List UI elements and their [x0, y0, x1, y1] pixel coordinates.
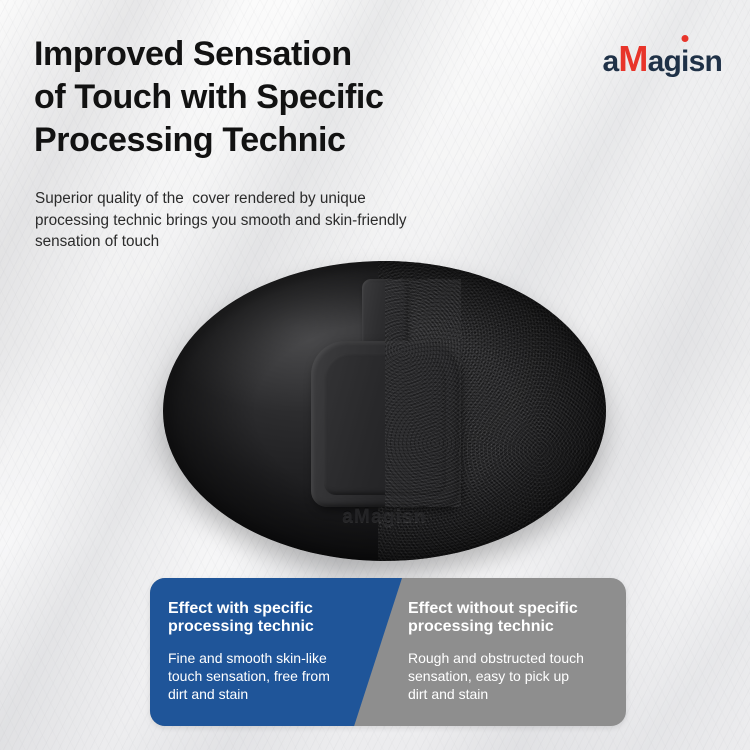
product-image: aMagisn: [163, 261, 606, 561]
logo-letter-i-stem: i: [681, 45, 689, 78]
brand-logo: a M ag i sn: [603, 41, 722, 77]
comparison-with-column: Effect with specific processing technic …: [168, 578, 376, 726]
logo-letter-i: i: [681, 47, 689, 77]
comparison-without-body: Rough and obstructed touch sensation, ea…: [408, 650, 620, 704]
comparison-with-body: Fine and smooth skin-like touch sensatio…: [168, 650, 376, 704]
logo-letter-a: a: [603, 47, 619, 77]
pad-center-boss: [311, 279, 459, 507]
comparison-without-title: Effect without specific processing techn…: [408, 600, 620, 636]
comparison-without-column: Effect without specific processing techn…: [408, 578, 620, 726]
comparison-panel: Effect with specific processing technic …: [150, 578, 626, 726]
headline-line-2: of Touch with Specific: [34, 76, 504, 119]
logo-dot-icon: [681, 35, 688, 42]
headline-line-3: Processing Technic: [34, 119, 504, 162]
logo-letters-ag: ag: [648, 47, 681, 77]
page-title: Improved Sensation of Touch with Specifi…: [34, 33, 504, 161]
subheading: Superior quality of the cover rendered b…: [35, 188, 480, 253]
subheading-line-3: sensation of touch: [35, 231, 480, 253]
comparison-with-title: Effect with specific processing technic: [168, 600, 376, 636]
product-oval-pad: aMagisn: [163, 261, 606, 561]
headline-line-1: Improved Sensation: [34, 33, 504, 76]
subheading-line-2: processing technic brings you smooth and…: [35, 210, 480, 232]
logo-letters-sn: sn: [689, 47, 722, 77]
embossed-brand-logo: aMagisn: [342, 507, 426, 526]
subheading-line-1: Superior quality of the cover rendered b…: [35, 188, 480, 210]
poster-canvas: Improved Sensation of Touch with Specifi…: [0, 0, 750, 750]
logo-letter-m: M: [618, 41, 647, 77]
boss-rough-texture: [385, 279, 461, 507]
